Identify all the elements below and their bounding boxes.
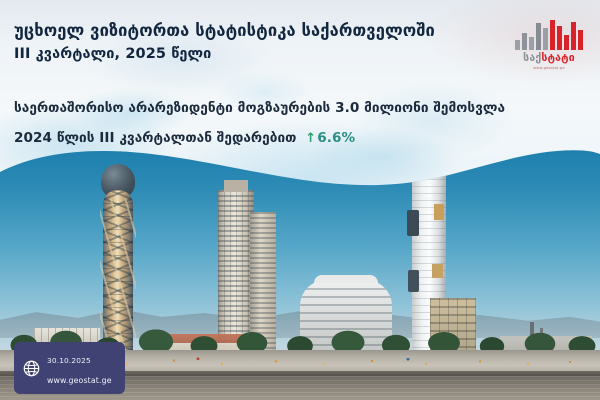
globe-icon <box>23 360 40 377</box>
logo-word-gray: საქ <box>523 52 541 64</box>
headline-line-1: საერთაშორისო არარეზიდენტი მოგზაურების 3.… <box>14 100 589 118</box>
geostat-logo[interactable]: საქსტატი www.geostat.ge <box>510 16 588 78</box>
tower-gold-panel <box>434 204 444 220</box>
headline-banner: საერთაშორისო არარეზიდენტი მოგზაურების 3.… <box>14 100 589 148</box>
logo-bar <box>543 28 548 50</box>
headline-text-post: მილიონი შემოსვლა <box>359 100 505 116</box>
logo-bar <box>571 22 576 50</box>
badge-website-url: www.geostat.ge <box>47 376 112 385</box>
tower-notch <box>407 210 419 236</box>
growth-percent: 6.6% <box>317 130 355 146</box>
logo-bar <box>515 40 520 50</box>
logo-bar <box>522 33 527 50</box>
logo-bar <box>529 37 534 50</box>
badge-text: 30.10.2025 www.geostat.ge <box>47 348 112 388</box>
logo-bar <box>536 23 541 50</box>
tower-crown <box>224 180 248 192</box>
logo-url: www.geostat.ge <box>510 66 588 70</box>
publication-date: 30.10.2025 <box>47 356 91 365</box>
logo-bar <box>550 20 555 50</box>
arrow-up-icon: ↑ <box>305 131 316 146</box>
logo-bar <box>578 30 583 50</box>
logo-bar <box>564 35 569 50</box>
page-title: უცხოელ ვიზიტორთა სტატისტიკა საქართველოში… <box>14 20 484 64</box>
hotel-roof <box>314 275 378 283</box>
tower-gold-panel <box>432 264 443 278</box>
infographic-poster: უცხოელ ვიზიტორთა სტატისტიკა საქართველოში… <box>0 0 600 400</box>
comparison-text: 2024 წლის III კვარტალთან შედარებით <box>14 130 301 146</box>
logo-bar <box>557 26 562 50</box>
logo-wordmark: საქსტატი <box>510 53 588 64</box>
tower-notch <box>408 270 419 292</box>
logo-word-red: სტატი <box>541 52 574 64</box>
headline-value: 3.0 <box>335 100 359 116</box>
date-url-badge[interactable]: 30.10.2025 www.geostat.ge <box>14 342 125 394</box>
headline-text-pre: საერთაშორისო არარეზიდენტი მოგზაურების <box>14 100 335 116</box>
title-line-2: III კვარტალი, 2025 წელი <box>14 45 484 64</box>
headline-line-2: 2024 წლის III კვარტალთან შედარებით ↑6.6% <box>14 130 589 148</box>
logo-bar-chart-icon <box>510 16 588 50</box>
title-line-1: უცხოელ ვიზიტორთა სტატისტიკა საქართველოში <box>14 20 484 41</box>
